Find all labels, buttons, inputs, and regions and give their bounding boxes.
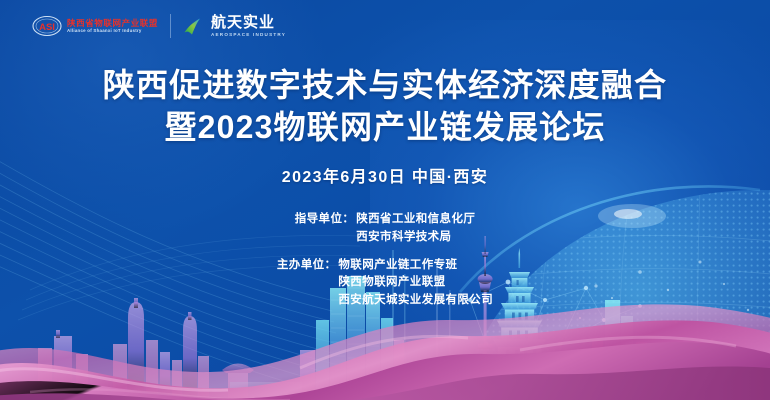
credit-value: 西安航天城实业发展有限公司 — [338, 292, 493, 310]
title-line-1: 陕西促进数字技术与实体经济深度融合 — [0, 64, 770, 106]
city-wall — [230, 382, 464, 400]
event-date-location: 2023年6月30日 中国·西安 — [0, 163, 770, 187]
alliance-logo-texts: 陕西省物联网产业联盟 Alliance of Shaanxi IoT Indus… — [67, 19, 158, 34]
credit-value: 陕西物联网产业联盟 — [338, 274, 493, 292]
logo-bar: ASI 陕西省物联网产业联盟 Alliance of Shaanxi IoT I… — [32, 9, 286, 43]
pavilion-secondary — [222, 364, 254, 400]
pavilion-tertiary — [672, 371, 700, 400]
credit-label: 主办单位： — [277, 257, 337, 275]
event-poster: ASI 陕西省物联网产业联盟 Alliance of Shaanxi IoT I… — [0, 0, 770, 400]
alliance-name-cn: 陕西省物联网产业联盟 — [67, 19, 158, 28]
svg-text:ASI: ASI — [39, 22, 55, 33]
traditional-pavilion — [538, 356, 582, 400]
alliance-logo: ASI 陕西省物联网产业联盟 Alliance of Shaanxi IoT I… — [32, 15, 158, 37]
credit-label: 指导单位： — [295, 211, 355, 229]
credit-values: 物联网产业链工作专班 陕西物联网产业联盟 西安航天城实业发展有限公司 — [338, 257, 493, 310]
credit-group-guidance: 指导单位： 陕西省工业和信息化厅 西安市科学技术局 — [295, 211, 476, 247]
credit-value: 西安市科学技术局 — [356, 229, 475, 247]
title-line-2: 暨2023物联网产业链发展论坛 — [0, 106, 770, 148]
credits-block: 指导单位： 陕西省工业和信息化厅 西安市科学技术局 主办单位： 物联网产业链工作… — [0, 211, 770, 320]
aerospace-swoosh-icon — [183, 16, 205, 36]
aerospace-name-cn: 航天实业 — [211, 15, 286, 30]
aerospace-logo: 航天实业 AEROSPACE INDUSTRY — [183, 15, 286, 38]
aerospace-logo-texts: 航天实业 AEROSPACE INDUSTRY — [211, 15, 286, 38]
credit-values: 陕西省工业和信息化厅 西安市科学技术局 — [356, 211, 475, 247]
credit-value: 陕西省工业和信息化厅 — [356, 211, 475, 229]
title-block: 陕西促进数字技术与实体经济深度融合 暨2023物联网产业链发展论坛 2023年6… — [0, 64, 770, 187]
logo-divider — [170, 14, 171, 38]
asi-alliance-logo-icon: ASI — [32, 15, 62, 37]
aerospace-name-en: AEROSPACE INDUSTRY — [211, 33, 286, 38]
credit-group-host: 主办单位： 物联网产业链工作专班 陕西物联网产业联盟 西安航天城实业发展有限公司 — [277, 257, 493, 310]
alliance-name-en: Alliance of Shaanxi IoT Industry — [67, 29, 158, 33]
background-gradient — [0, 0, 770, 400]
credit-value: 物联网产业链工作专班 — [338, 257, 493, 275]
scenery-illustration — [0, 0, 770, 400]
